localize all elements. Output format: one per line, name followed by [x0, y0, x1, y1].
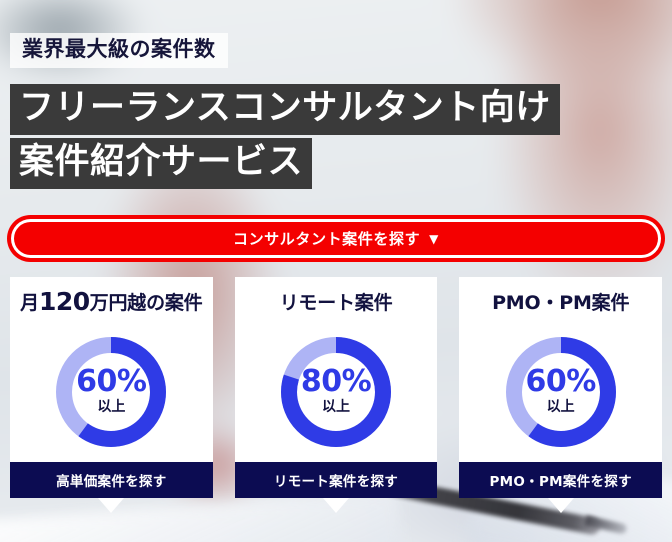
- stat-card[interactable]: 月120万円越の案件 60% 以上 高単価案件を探す: [10, 277, 213, 498]
- donut-center-label: 60% 以上: [502, 333, 620, 451]
- chevron-down-icon: ▼: [429, 233, 439, 245]
- search-consultant-jobs-button[interactable]: コンサルタント案件を探す ▼: [11, 219, 661, 258]
- card-title: PMO・PM案件: [459, 277, 662, 322]
- card-title-highlight: 120: [39, 287, 90, 316]
- donut-chart: 80% 以上: [277, 333, 395, 451]
- donut-chart-wrapper: 80% 以上: [235, 322, 438, 462]
- cta-label: コンサルタント案件を探す: [233, 228, 420, 249]
- donut-percent: 60%: [76, 367, 146, 397]
- donut-percent-sub: 以上: [97, 397, 125, 418]
- card-action-button[interactable]: PMO・PM案件を探す: [459, 462, 662, 498]
- card-title-suffix: PMO・PM案件: [492, 288, 629, 315]
- donut-chart: 60% 以上: [52, 333, 170, 451]
- card-title: 月120万円越の案件: [10, 277, 213, 322]
- donut-center-label: 80% 以上: [277, 333, 395, 451]
- headline-line-1: フリーランスコンサルタント向け: [10, 84, 560, 135]
- donut-chart: 60% 以上: [502, 333, 620, 451]
- page-title: フリーランスコンサルタント向け 案件紹介サービス: [10, 84, 560, 189]
- donut-percent-sub: 以上: [547, 397, 575, 418]
- stat-card[interactable]: PMO・PM案件 60% 以上 PMO・PM案件を探す: [459, 277, 662, 498]
- card-title: リモート案件: [235, 277, 438, 322]
- donut-percent: 60%: [526, 367, 596, 397]
- donut-chart-wrapper: 60% 以上: [10, 322, 213, 462]
- headline-line-2: 案件紹介サービス: [10, 138, 312, 189]
- donut-percent: 80%: [301, 367, 371, 397]
- card-title-suffix: 万円越の案件: [90, 288, 203, 315]
- eyebrow-badge: 業界最大級の案件数: [10, 33, 228, 68]
- stat-card[interactable]: リモート案件 80% 以上 リモート案件を探す: [235, 277, 438, 498]
- stat-card-list: 月120万円越の案件 60% 以上 高単価案件を探す リモート案件: [10, 277, 662, 498]
- cta-label-group: コンサルタント案件を探す ▼: [233, 228, 439, 249]
- donut-percent-sub: 以上: [322, 397, 350, 418]
- card-title-prefix: 月: [20, 288, 39, 315]
- card-action-button[interactable]: 高単価案件を探す: [10, 462, 213, 498]
- donut-chart-wrapper: 60% 以上: [459, 322, 662, 462]
- donut-center-label: 60% 以上: [52, 333, 170, 451]
- card-action-button[interactable]: リモート案件を探す: [235, 462, 438, 498]
- card-title-suffix: リモート案件: [280, 288, 393, 315]
